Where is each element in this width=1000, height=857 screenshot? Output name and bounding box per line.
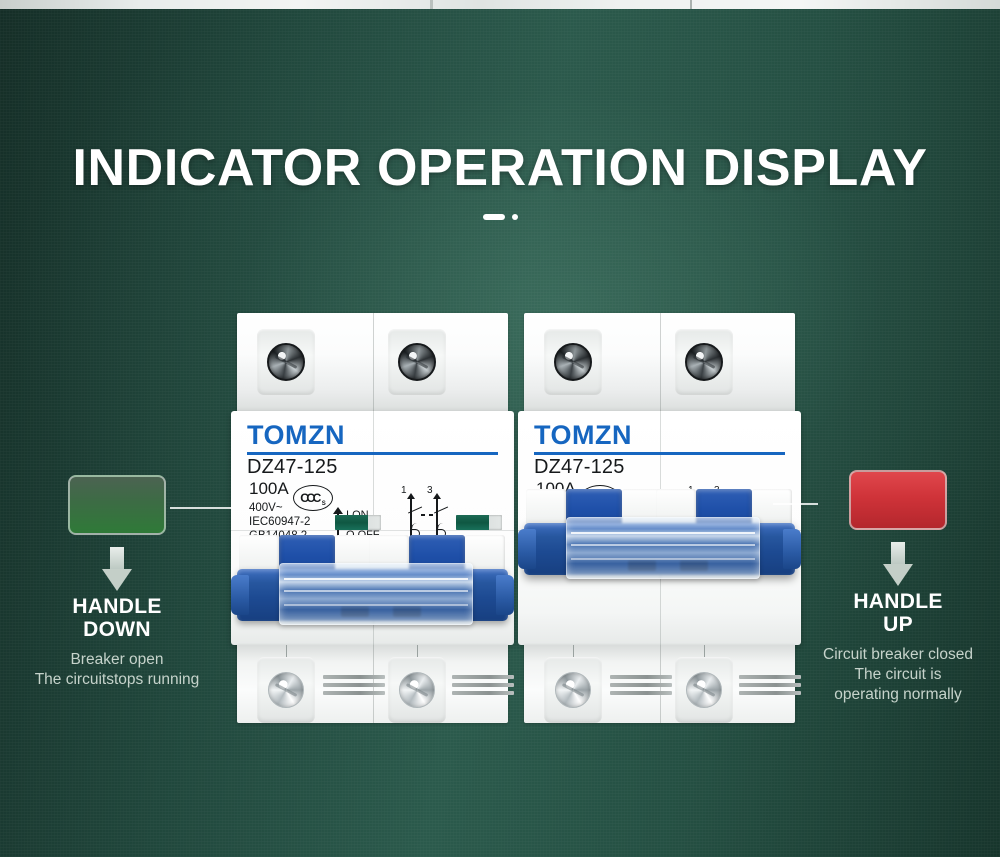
top-terminal-block-left: [237, 313, 508, 411]
infographic-canvas: INDICATOR OPERATION DISPLAY TOMZN DZ47-1…: [0, 0, 1000, 857]
terminal-well-2: [388, 329, 446, 395]
breaker-handle-right[interactable]: [518, 489, 801, 599]
terminal-well-1: [257, 329, 315, 395]
terminal-well-3: [544, 657, 602, 723]
terminal-well-2: [675, 329, 733, 395]
description-line-2: The circuit is: [773, 665, 1000, 685]
tie-bar-highlight: [571, 558, 755, 560]
description-line-1: Breaker open: [0, 650, 242, 670]
terminal-well-4: [388, 657, 446, 723]
terminal-screw-icon: [685, 343, 723, 381]
bottom-terminal-block-left: [237, 645, 508, 723]
terminal-seam: [660, 313, 661, 411]
callout-right: HANDLE UP Circuit breaker closed The cir…: [773, 470, 1000, 705]
terminal-well-3: [257, 657, 315, 723]
breaker-handle-left[interactable]: [231, 535, 514, 645]
green-indicator: [335, 515, 368, 530]
arrow-shaft: [110, 547, 124, 571]
schematic-link: [421, 514, 437, 516]
brand-underline: [534, 452, 785, 455]
callout-headline-right: HANDLE UP: [773, 590, 1000, 636]
terminal-well-4: [675, 657, 733, 723]
headline-line-2: UP: [773, 613, 1000, 636]
ornament-dash: [483, 214, 505, 220]
callout-description-right: Circuit breaker closed The circuit is op…: [773, 645, 1000, 705]
arrow-shaft: [891, 542, 905, 566]
tie-bar-highlight: [284, 590, 468, 592]
ccc-text: CCC: [300, 491, 319, 505]
ccc-certification-icon: CCCS: [293, 485, 333, 511]
terminal-screw-icon: [399, 672, 435, 708]
terminal-seam: [373, 313, 374, 411]
spec-iec: IEC60947-2: [249, 515, 310, 529]
arrow-head: [883, 564, 913, 586]
callout-headline-left: HANDLE DOWN: [0, 595, 242, 641]
tie-bar-highlight: [284, 578, 468, 580]
terminal-screw-icon: [686, 672, 722, 708]
green-status-swatch: [68, 475, 166, 535]
strip-seam-left: [430, 0, 433, 9]
vent-slots: [323, 675, 385, 701]
terminal-screw-icon: [398, 343, 436, 381]
terminal-screw-icon: [268, 672, 304, 708]
terminal-number-3: 3: [427, 485, 433, 496]
description-line-1: Circuit breaker closed: [773, 645, 1000, 665]
tie-bar-highlight: [571, 544, 755, 546]
description-line-3: operating normally: [773, 685, 1000, 705]
vent-slots: [452, 675, 514, 701]
headline-line-2: DOWN: [0, 618, 242, 641]
headline-line-1: HANDLE: [0, 595, 242, 618]
description-line-2: The circuitstops running: [0, 670, 242, 690]
strip-seam-right: [690, 0, 692, 9]
terminal-screw-icon: [555, 672, 591, 708]
arrow-head: [102, 569, 132, 591]
arrow-down-icon: [883, 542, 913, 586]
brand-logo: TOMZN: [247, 420, 345, 451]
tie-bar-highlight: [571, 532, 755, 534]
headline-line-1: HANDLE: [773, 590, 1000, 613]
red-status-swatch: [849, 470, 947, 530]
model-number: DZ47-125: [247, 456, 338, 479]
ornament-dot: [512, 214, 518, 220]
terminal-well-1: [544, 329, 602, 395]
handle-tie-bar: [566, 517, 760, 579]
status-indicator-window-pole1: [335, 515, 381, 530]
vent-slots: [610, 675, 672, 701]
handle-tie-bar: [279, 563, 473, 625]
arrow-down-icon: [102, 547, 132, 591]
brand-logo: TOMZN: [534, 420, 632, 451]
bottom-terminal-block-right: [524, 645, 795, 723]
page-title: INDICATOR OPERATION DISPLAY: [0, 138, 1000, 198]
circuit-breaker-right: TOMZN DZ47-125 100A 400V~ IEC60947-2 GB1…: [518, 313, 801, 723]
callout-description-left: Breaker open The circuitstops running: [0, 650, 242, 690]
top-terminal-block-right: [524, 313, 795, 411]
terminal-screw-icon: [267, 343, 305, 381]
handle-cap-left: [518, 529, 536, 569]
circuit-breaker-left: TOMZN DZ47-125 100A 400V~ IEC60947-2 GB1…: [231, 313, 514, 723]
handle-cap-right: [496, 575, 514, 615]
terminal-screw-icon: [554, 343, 592, 381]
tie-bar-highlight: [284, 604, 468, 606]
model-number: DZ47-125: [534, 456, 625, 479]
terminal-number-1: 1: [401, 485, 407, 496]
title-divider-ornament: [0, 210, 1000, 224]
callout-left: HANDLE DOWN Breaker open The circuitstop…: [0, 475, 242, 690]
current-rating: 100A: [249, 479, 289, 499]
brand-underline: [247, 452, 498, 455]
top-edge-strip: [0, 0, 1000, 9]
ccc-subscript: S: [322, 501, 326, 507]
